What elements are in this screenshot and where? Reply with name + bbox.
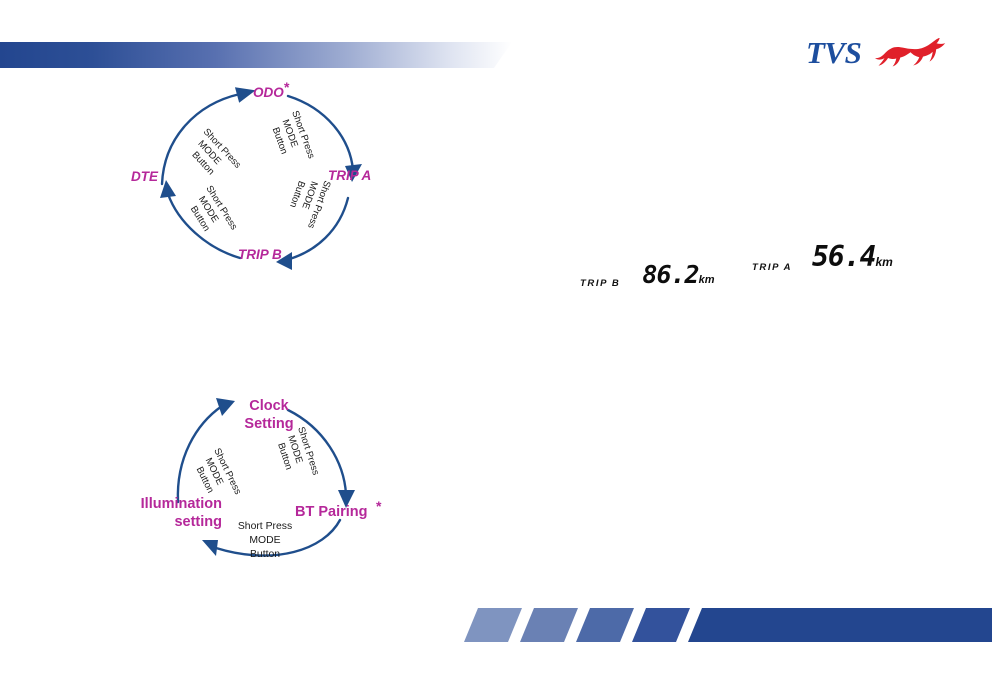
transition-label-odo-tripa: Short Press MODE Button [267,109,317,168]
node-clock-setting: Clock Setting [244,398,293,432]
transition-label-tripb-dte: Short Press MODE Button [183,184,239,245]
node-star-marker: * [284,79,290,95]
banner-stripe-3 [576,608,634,642]
trip-a-tag: TRIP A [752,262,792,273]
trip-b-number: 86.2 [642,260,698,289]
node-label-line-2: setting [174,514,222,530]
arrow-path [162,94,240,184]
node-bt-pairing: BT Pairing * [295,498,382,520]
tvs-wordmark: TVS [806,36,861,70]
bottom-decorative-banner [464,608,992,642]
label-line-1: Short Press [238,521,292,532]
label-line-2: MODE [249,535,280,546]
transition-label-clock-bt: Short Press MODE Button [272,426,321,485]
arrow-head-icon [202,540,218,556]
trip-a-readout: TRIP A56.4km [752,240,893,273]
node-odo: ODO * [253,79,290,100]
trip-b-tag: TRIP B [580,278,620,289]
node-trip-b: TRIP B [238,247,282,262]
transition-label-tripa-tripb: Short Press MODE Button [282,171,332,230]
node-illumination-setting: Illumination setting [141,496,222,530]
node-trip-a: TRIP A [328,168,371,183]
trip-b-value: 86.2km [642,260,714,289]
node-label-line-1: Illumination [141,496,222,512]
node-label-text: TRIP A [328,168,371,183]
transition-label-dte-odo: Short Press MODE Button [183,127,243,188]
node-label-line-2: Setting [244,416,293,432]
node-label-line-1: Clock [249,398,289,414]
tvs-logo: TVS [806,36,948,72]
trip-b-readout: TRIP B86.2km [580,260,715,289]
tvs-horse-icon [874,38,948,73]
trip-a-number: 56.4 [812,240,875,273]
banner-stripe-1 [464,608,522,642]
trip-a-value: 56.4km [812,240,893,273]
trip-b-unit: km [699,274,715,286]
node-label-text: DTE [131,169,159,184]
node-label-text: TRIP B [238,247,282,262]
banner-stripe-2 [520,608,578,642]
node-dte: DTE [131,169,159,184]
trip-a-unit: km [875,255,892,269]
banner-stripe-4 [632,608,690,642]
node-label-text: ODO [253,85,284,100]
node-label-line-1: BT Pairing [295,504,368,520]
settings-cycle-diagram: Short Press MODE Button Short Press MODE… [128,384,404,576]
banner-solid-bar [688,608,992,642]
node-star-marker: * [376,498,382,514]
odo-trip-cycle-diagram: Short Press MODE Button Short Press MODE… [140,72,390,284]
label-line-3: Button [250,549,280,560]
top-decorative-banner [0,42,512,68]
